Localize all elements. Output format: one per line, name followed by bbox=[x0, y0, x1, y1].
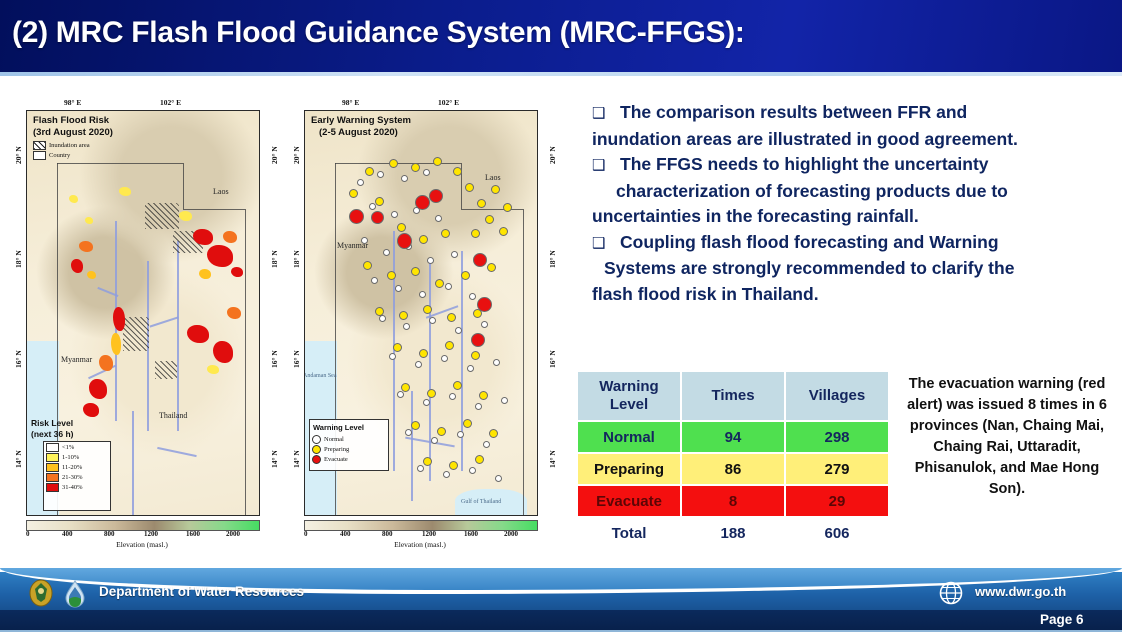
risk-legend-title-line2: (next 36 h) bbox=[31, 428, 74, 440]
right-map-cb-tick-0: 0 bbox=[304, 530, 308, 538]
village-point-normal bbox=[435, 215, 442, 222]
bullet-0-line-1: inundation areas are illustrated in good… bbox=[592, 127, 1114, 153]
risk-blob bbox=[179, 211, 192, 221]
right-map-cb-tick-3: 1200 bbox=[422, 530, 436, 538]
river bbox=[461, 251, 463, 471]
village-point-evacuate bbox=[371, 211, 384, 224]
village-point-preparing bbox=[479, 391, 488, 400]
inundation-area bbox=[155, 361, 177, 379]
bullet-marker-2-icon: ❑ bbox=[592, 234, 605, 252]
risk-blob bbox=[207, 365, 219, 374]
table-cell-times-evacuate: 8 bbox=[682, 486, 784, 516]
bullet-marker-0-icon: ❑ bbox=[592, 104, 605, 122]
bullet-2-text-0: Coupling flash flood forecasting and War… bbox=[620, 232, 999, 252]
village-point-preparing bbox=[491, 185, 500, 194]
bullet-2-line-0: ❑ Coupling flash flood forecasting and W… bbox=[592, 230, 1114, 257]
warning-legend-label-0: Normal bbox=[324, 436, 344, 443]
outline-swatch-icon bbox=[33, 151, 46, 160]
risk-swatch-0-icon bbox=[46, 443, 59, 452]
village-point-preparing bbox=[389, 159, 398, 168]
village-point-preparing bbox=[449, 461, 458, 470]
table-cell-villages-preparing: 279 bbox=[786, 454, 888, 484]
village-point-preparing bbox=[387, 271, 396, 280]
bullet-2-line-1: Systems are strongly recommended to clar… bbox=[592, 256, 1114, 282]
left-map-cb-tick-2: 800 bbox=[104, 530, 115, 538]
risk-swatch-2-icon bbox=[46, 463, 59, 472]
left-map-cb-tick-5: 2000 bbox=[226, 530, 240, 538]
right-map-lat-tick-3: 14° N bbox=[292, 450, 301, 468]
village-point-evacuate bbox=[397, 233, 412, 249]
village-point-preparing bbox=[393, 343, 402, 352]
risk-legend-label-3: 21-30% bbox=[62, 474, 83, 481]
right-map-panel: 98° E 102° E 20° N 18° N 16° N 14° N 20°… bbox=[286, 96, 554, 558]
right-map-title-line2: (2-5 August 2020) bbox=[319, 127, 398, 139]
footer-department: Department of Water Resources bbox=[99, 584, 304, 599]
village-point-preparing bbox=[477, 199, 486, 208]
risk-blob bbox=[85, 217, 93, 224]
village-point-normal bbox=[357, 179, 364, 186]
right-map-title-line1: Early Warning System bbox=[311, 115, 411, 127]
left-map-cb-tick-0: 0 bbox=[26, 530, 30, 538]
risk-blob bbox=[231, 267, 243, 277]
risk-blob bbox=[111, 333, 121, 355]
village-point-normal bbox=[501, 397, 508, 404]
table-cell-level-total: Total bbox=[578, 518, 680, 548]
village-point-evacuate bbox=[415, 195, 430, 210]
village-point-preparing bbox=[349, 189, 358, 198]
risk-blob bbox=[71, 259, 83, 273]
village-point-normal bbox=[401, 175, 408, 182]
village-point-normal bbox=[405, 429, 412, 436]
table-cell-times-normal: 94 bbox=[682, 422, 784, 452]
village-point-preparing bbox=[437, 427, 446, 436]
risk-blob bbox=[223, 231, 237, 243]
left-map-title-line2: (3rd August 2020) bbox=[33, 127, 113, 139]
warning-dot-preparing-icon bbox=[312, 445, 321, 454]
slide-header: (2) MRC Flash Flood Guidance System (MRC… bbox=[0, 0, 1122, 72]
village-point-normal bbox=[397, 391, 404, 398]
evacuation-note: The evacuation warning (red alert) was i… bbox=[896, 374, 1118, 500]
village-point-evacuate bbox=[477, 297, 492, 312]
right-map-lat-tick-r0: 20° N bbox=[548, 146, 557, 164]
right-map-lat-tick-r3: 14° N bbox=[548, 450, 557, 468]
risk-blob bbox=[87, 271, 96, 279]
water-drop-logo-icon bbox=[60, 578, 90, 608]
village-point-preparing bbox=[453, 381, 462, 390]
village-point-preparing bbox=[365, 167, 374, 176]
left-map-lat-tick-0: 20° N bbox=[14, 146, 23, 164]
village-point-normal bbox=[475, 403, 482, 410]
village-point-normal bbox=[445, 283, 452, 290]
warning-dot-evacuate-icon bbox=[312, 455, 321, 464]
village-point-preparing bbox=[499, 227, 508, 236]
bullet-2-line-2: flash flood risk in Thailand. bbox=[592, 282, 1114, 308]
village-point-preparing bbox=[363, 261, 372, 270]
village-point-normal bbox=[457, 431, 464, 438]
left-map-inset-legend-label-0: Inundation area bbox=[49, 142, 90, 149]
table-row: Normal 94 298 bbox=[578, 422, 888, 452]
footer-page-number: Page 6 bbox=[1040, 612, 1084, 627]
footer-dark-band bbox=[0, 610, 1122, 632]
risk-legend-label-0: <1% bbox=[62, 444, 74, 451]
village-point-preparing bbox=[399, 311, 408, 320]
right-map-cb-tick-4: 1600 bbox=[464, 530, 478, 538]
village-point-normal bbox=[415, 361, 422, 368]
left-map-inset-legend-label-1: Country bbox=[49, 152, 70, 159]
left-map-lon-tick-1: 102° E bbox=[160, 98, 181, 107]
left-map-inset-legend: Inundation area Country bbox=[33, 140, 90, 160]
warning-legend-label-2: Evacuate bbox=[324, 456, 348, 463]
village-point-preparing bbox=[411, 163, 420, 172]
village-point-normal bbox=[379, 315, 386, 322]
table-cell-villages-evacuate: 29 bbox=[786, 486, 888, 516]
right-map-lat-tick-0: 20° N bbox=[292, 146, 301, 164]
left-map-colorbar-caption: Elevation (masl.) bbox=[26, 540, 258, 549]
village-point-preparing bbox=[401, 383, 410, 392]
left-map-label-thailand: Thailand bbox=[159, 411, 187, 420]
village-point-normal bbox=[441, 355, 448, 362]
table-cell-villages-normal: 298 bbox=[786, 422, 888, 452]
risk-swatch-4-icon bbox=[46, 483, 59, 492]
table-cell-level-normal: Normal bbox=[578, 422, 680, 452]
right-map-lon-tick-1: 102° E bbox=[438, 98, 459, 107]
warning-level-legend: Warning Level Normal Preparing Evacuate bbox=[309, 419, 389, 471]
village-point-preparing bbox=[489, 429, 498, 438]
village-point-normal bbox=[389, 353, 396, 360]
village-point-preparing bbox=[485, 215, 494, 224]
table-cell-villages-total: 606 bbox=[786, 518, 888, 548]
risk-blob bbox=[99, 355, 113, 371]
left-map-lat-tick-2: 16° N bbox=[14, 350, 23, 368]
left-map-label-myanmar: Myanmar bbox=[61, 355, 92, 364]
right-map-cb-tick-5: 2000 bbox=[504, 530, 518, 538]
village-point-preparing bbox=[487, 263, 496, 272]
village-point-normal bbox=[391, 211, 398, 218]
table-cell-level-evacuate: Evacuate bbox=[578, 486, 680, 516]
village-point-normal bbox=[467, 365, 474, 372]
bullet-1-line-1: characterization of forecasting products… bbox=[592, 179, 1114, 205]
village-point-preparing bbox=[463, 419, 472, 428]
risk-blob bbox=[83, 403, 99, 417]
risk-blob bbox=[213, 341, 233, 363]
village-point-normal bbox=[429, 317, 436, 324]
village-point-preparing bbox=[465, 183, 474, 192]
table-col-warning-level: Warning Level bbox=[578, 372, 680, 420]
table-cell-times-total: 188 bbox=[682, 518, 784, 548]
bullet-1-line-0: ❑ The FFGS needs to highlight the uncert… bbox=[592, 152, 1114, 179]
right-map-label-laos: Laos bbox=[485, 173, 501, 182]
village-point-normal bbox=[451, 251, 458, 258]
village-point-preparing bbox=[411, 267, 420, 276]
bullet-list: ❑ The comparison results between FFR and… bbox=[592, 100, 1114, 307]
warning-legend-label-1: Preparing bbox=[324, 446, 349, 453]
left-map-cb-tick-4: 1600 bbox=[186, 530, 200, 538]
garuda-emblem-icon bbox=[26, 578, 56, 608]
risk-level-legend: <1% 1-10% 11-20% 21-30% 31-40% bbox=[43, 441, 111, 511]
risk-blob bbox=[193, 229, 213, 245]
left-map-lon-tick-0: 98° E bbox=[64, 98, 81, 107]
left-map-cb-tick-1: 400 bbox=[62, 530, 73, 538]
village-point-preparing bbox=[471, 351, 480, 360]
village-point-preparing bbox=[375, 197, 384, 206]
table-cell-times-preparing: 86 bbox=[682, 454, 784, 484]
village-point-normal bbox=[419, 291, 426, 298]
village-point-preparing bbox=[423, 305, 432, 314]
left-map-lat-tick-r2: 16° N bbox=[270, 350, 279, 368]
village-point-preparing bbox=[419, 349, 428, 358]
left-map-lat-tick-3: 14° N bbox=[14, 450, 23, 468]
right-map-cb-tick-1: 400 bbox=[340, 530, 351, 538]
table-cell-level-preparing: Preparing bbox=[578, 454, 680, 484]
village-point-preparing bbox=[423, 457, 432, 466]
village-point-preparing bbox=[453, 167, 462, 176]
risk-blob bbox=[199, 269, 211, 279]
river bbox=[177, 241, 179, 431]
village-point-normal bbox=[427, 257, 434, 264]
village-point-normal bbox=[395, 285, 402, 292]
village-point-normal bbox=[423, 399, 430, 406]
village-point-evacuate bbox=[473, 253, 487, 267]
left-map-label-laos: Laos bbox=[213, 187, 229, 196]
risk-blob bbox=[187, 325, 209, 343]
left-map-lat-tick-r1: 18° N bbox=[270, 250, 279, 268]
left-map-border-north bbox=[57, 163, 183, 164]
village-point-normal bbox=[443, 471, 450, 478]
slide: (2) MRC Flash Flood Guidance System (MRC… bbox=[0, 0, 1122, 632]
risk-blob bbox=[89, 379, 107, 399]
right-map-border-east2 bbox=[523, 209, 524, 516]
village-point-normal bbox=[455, 327, 462, 334]
right-map-lat-tick-r2: 16° N bbox=[548, 350, 557, 368]
risk-blob bbox=[119, 187, 131, 196]
warning-legend-title: Warning Level bbox=[313, 422, 388, 434]
left-map-lat-tick-1: 18° N bbox=[14, 250, 23, 268]
village-point-preparing bbox=[411, 421, 420, 430]
risk-legend-label-2: 11-20% bbox=[62, 464, 82, 471]
right-map-colorbar-caption: Elevation (masl.) bbox=[304, 540, 536, 549]
right-map-border-east1 bbox=[461, 209, 523, 210]
village-point-normal bbox=[495, 475, 502, 482]
village-point-normal bbox=[493, 359, 500, 366]
village-point-preparing bbox=[375, 307, 384, 316]
table-row: Evacuate 8 29 bbox=[578, 486, 888, 516]
right-map-lat-tick-r1: 18° N bbox=[548, 250, 557, 268]
village-point-preparing bbox=[419, 235, 428, 244]
village-point-preparing bbox=[503, 203, 512, 212]
risk-blob bbox=[69, 195, 78, 203]
village-point-normal bbox=[371, 277, 378, 284]
village-point-evacuate bbox=[349, 209, 364, 224]
village-point-normal bbox=[469, 467, 476, 474]
risk-swatch-1-icon bbox=[46, 453, 59, 462]
village-point-normal bbox=[423, 169, 430, 176]
village-point-preparing bbox=[427, 389, 436, 398]
left-map-title-line1: Flash Flood Risk bbox=[33, 115, 109, 127]
village-point-evacuate bbox=[429, 189, 443, 203]
right-map-cb-tick-2: 800 bbox=[382, 530, 393, 538]
left-map-canvas: Laos Myanmar Thailand Flash Flood Risk (… bbox=[26, 110, 260, 516]
river bbox=[429, 261, 431, 481]
table-row: Preparing 86 279 bbox=[578, 454, 888, 484]
village-point-preparing bbox=[433, 157, 442, 166]
bullet-marker-1-icon: ❑ bbox=[592, 156, 605, 174]
right-map-canvas: Laos Myanmar Andaman Sea Gulf of Thailan… bbox=[304, 110, 538, 516]
footer-url[interactable]: www.dwr.go.th bbox=[975, 584, 1066, 599]
bullet-1-line-2: uncertainties in the forecasting rainfal… bbox=[592, 204, 1114, 230]
risk-blob bbox=[113, 307, 125, 331]
village-point-preparing bbox=[447, 313, 456, 322]
river bbox=[132, 411, 134, 515]
village-point-normal bbox=[403, 323, 410, 330]
village-point-preparing bbox=[445, 341, 454, 350]
bullet-0-line-0: ❑ The comparison results between FFR and bbox=[592, 100, 1114, 127]
slide-footer: Department of Water Resources www.dwr.go… bbox=[0, 568, 1122, 632]
left-map-border-east1 bbox=[183, 209, 245, 210]
right-map-border-north bbox=[335, 163, 461, 164]
inundation-area bbox=[145, 203, 179, 229]
right-map-label-gulf-of-thailand: Gulf of Thailand bbox=[461, 499, 501, 505]
left-map-lat-tick-r0: 20° N bbox=[270, 146, 279, 164]
table-col-times: Times bbox=[682, 372, 784, 420]
warning-level-table: Warning Level Times Villages Normal 94 2… bbox=[576, 370, 890, 550]
risk-legend-label-4: 31-40% bbox=[62, 484, 83, 491]
right-map-lat-tick-2: 16° N bbox=[292, 350, 301, 368]
risk-blob bbox=[79, 241, 93, 252]
risk-blob bbox=[227, 307, 241, 319]
village-point-preparing bbox=[461, 271, 470, 280]
village-point-preparing bbox=[397, 223, 406, 232]
village-point-normal bbox=[383, 249, 390, 256]
village-point-preparing bbox=[435, 279, 444, 288]
right-map-lat-tick-1: 18° N bbox=[292, 250, 301, 268]
globe-icon bbox=[938, 580, 964, 606]
left-map-border-ne bbox=[183, 163, 184, 209]
river bbox=[411, 391, 413, 501]
village-point-normal bbox=[483, 441, 490, 448]
village-point-normal bbox=[449, 393, 456, 400]
warning-dot-normal-icon bbox=[312, 435, 321, 444]
table-col-villages: Villages bbox=[786, 372, 888, 420]
left-map-cb-tick-3: 1200 bbox=[144, 530, 158, 538]
village-point-normal bbox=[481, 321, 488, 328]
left-map-panel: 98° E 102° E 20° N 18° N 16° N 14° N 20°… bbox=[8, 96, 276, 558]
header-divider bbox=[0, 72, 1122, 76]
village-point-normal bbox=[377, 171, 384, 178]
right-map-label-andaman-sea: Andaman Sea bbox=[304, 373, 337, 379]
village-point-preparing bbox=[471, 229, 480, 238]
right-map-label-myanmar: Myanmar bbox=[337, 241, 368, 250]
left-map-border-east2 bbox=[245, 209, 246, 516]
village-point-normal bbox=[431, 437, 438, 444]
bullet-1-text-0: The FFGS needs to highlight the uncertai… bbox=[620, 154, 988, 174]
inundation-area bbox=[123, 317, 149, 351]
village-point-preparing bbox=[475, 455, 484, 464]
risk-legend-label-1: 1-10% bbox=[62, 454, 79, 461]
right-map-lon-tick-0: 98° E bbox=[342, 98, 359, 107]
risk-swatch-3-icon bbox=[46, 473, 59, 482]
village-point-normal bbox=[417, 465, 424, 472]
village-point-normal bbox=[469, 293, 476, 300]
village-point-evacuate bbox=[471, 333, 485, 347]
left-map-lat-tick-r3: 14° N bbox=[270, 450, 279, 468]
table-header-row: Warning Level Times Villages bbox=[578, 372, 888, 420]
village-point-preparing bbox=[441, 229, 450, 238]
page-title: (2) MRC Flash Flood Guidance System (MRC… bbox=[12, 16, 745, 50]
bullet-0-text-0: The comparison results between FFR and bbox=[620, 102, 967, 122]
table-row: Total 188 606 bbox=[578, 518, 888, 548]
hatch-swatch-icon bbox=[33, 141, 46, 150]
risk-blob bbox=[207, 245, 233, 267]
